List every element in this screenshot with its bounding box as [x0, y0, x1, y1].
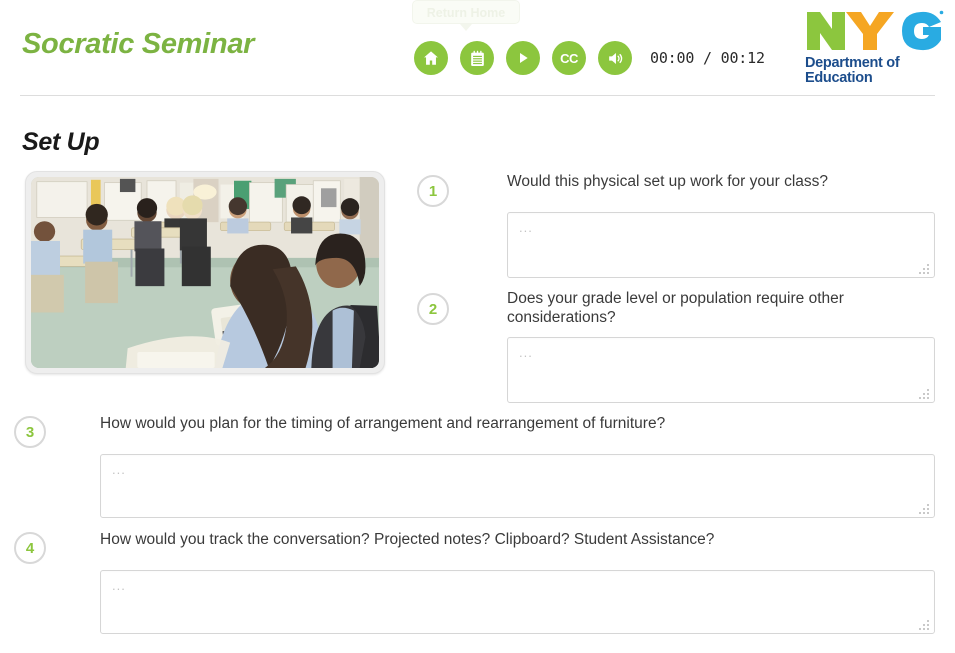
- cc-icon: CC: [560, 51, 578, 66]
- question-number-3: 3: [14, 416, 46, 448]
- notes-icon: [468, 49, 487, 68]
- app-header: Socratic Seminar Return Home: [0, 0, 955, 95]
- section-title: Set Up: [22, 128, 99, 157]
- question-text-1: Would this physical set up work for your…: [507, 172, 937, 191]
- classroom-photo: [31, 177, 379, 368]
- answer-placeholder-3: ...: [112, 462, 126, 477]
- question-number-4: 4: [14, 532, 46, 564]
- resize-handle-icon[interactable]: [919, 262, 931, 274]
- home-button[interactable]: [414, 41, 448, 75]
- volume-button[interactable]: [598, 41, 632, 75]
- cc-button[interactable]: CC: [552, 41, 586, 75]
- answer-placeholder-4: ...: [112, 578, 126, 593]
- header-divider: [20, 95, 935, 96]
- answer-textarea-2[interactable]: ...: [507, 337, 935, 403]
- logo-subtitle-line2: Education: [805, 71, 945, 86]
- home-icon: [422, 49, 440, 67]
- player-controls: CC 00:00 / 00:12: [414, 41, 765, 75]
- nyc-logo-icon: [805, 8, 945, 54]
- classroom-photo-image: [31, 177, 379, 368]
- logo-subtitle-line1: Department of: [805, 56, 945, 71]
- classroom-photo-frame: [25, 171, 385, 374]
- answer-placeholder-2: ...: [519, 345, 533, 360]
- answer-textarea-4[interactable]: ...: [100, 570, 935, 634]
- question-text-2: Does your grade level or population requ…: [507, 289, 907, 327]
- tooltip-arrow: [460, 24, 472, 31]
- question-text-3: How would you plan for the timing of arr…: [100, 414, 920, 433]
- answer-placeholder-1: ...: [519, 220, 533, 235]
- page-root: Socratic Seminar Return Home: [0, 0, 955, 653]
- nyc-doe-logo: Department of Education: [805, 8, 945, 86]
- resize-handle-icon[interactable]: [919, 618, 931, 630]
- question-text-4: How would you track the conversation? Pr…: [100, 530, 920, 549]
- notes-button[interactable]: [460, 41, 494, 75]
- resize-handle-icon[interactable]: [919, 502, 931, 514]
- logo-subtitle: Department of Education: [805, 56, 945, 86]
- resize-handle-icon[interactable]: [919, 387, 931, 399]
- tooltip-label: Return Home: [412, 0, 520, 24]
- answer-textarea-1[interactable]: ...: [507, 212, 935, 278]
- answer-textarea-3[interactable]: ...: [100, 454, 935, 518]
- question-number-1: 1: [417, 175, 449, 207]
- play-button[interactable]: [506, 41, 540, 75]
- play-icon: [515, 50, 531, 66]
- volume-icon: [606, 49, 625, 68]
- page-title: Socratic Seminar: [22, 28, 254, 61]
- question-number-2: 2: [417, 293, 449, 325]
- tooltip-return-home: Return Home: [412, 0, 520, 24]
- time-display: 00:00 / 00:12: [650, 49, 765, 67]
